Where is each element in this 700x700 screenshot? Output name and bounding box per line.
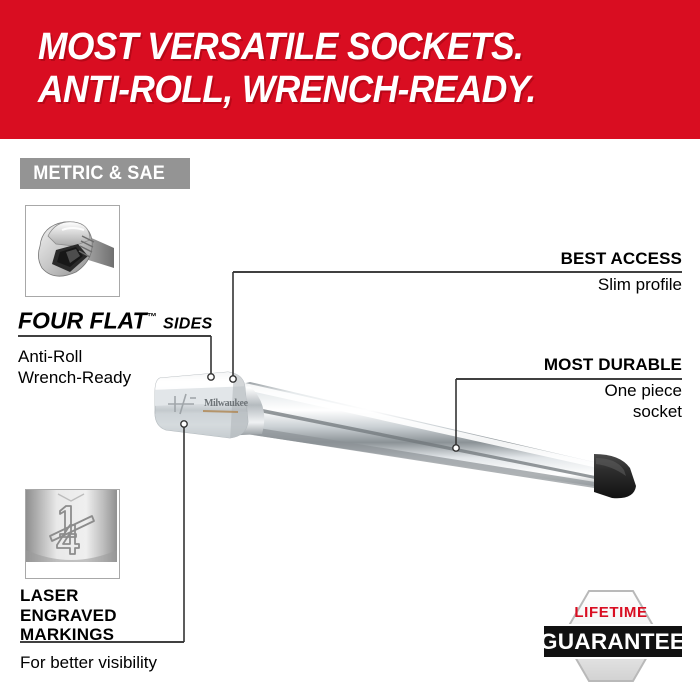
laser-title-line-1: LASER	[20, 586, 220, 606]
best-access-subtext: Slim profile	[422, 274, 682, 295]
metric-sae-badge: METRIC & SAE	[20, 158, 190, 189]
best-access-title: BEST ACCESS	[422, 249, 682, 268]
headline-line-2: ANTI-ROLL, WRENCH-READY.	[38, 69, 633, 112]
laser-title-line-2: ENGRAVED	[20, 606, 220, 626]
svg-text:Milwaukee: Milwaukee	[204, 398, 249, 409]
guarantee-lifetime-label: LIFETIME	[537, 604, 685, 621]
wrench-on-socket-illustration	[26, 206, 117, 294]
callout-best-access: BEST ACCESS Slim profile	[422, 249, 682, 295]
headline: MOST VERSATILE SOCKETS. ANTI-ROLL, WRENC…	[38, 26, 678, 112]
laser-title-line-3: MARKINGS	[20, 625, 220, 645]
laser-engraved-inset-photo	[25, 489, 120, 579]
headline-line-1: MOST VERSATILE SOCKETS.	[38, 26, 633, 69]
laser-engraved-title: LASER ENGRAVED MARKINGS	[20, 586, 220, 645]
four-flat-inset-photo	[25, 205, 120, 297]
guarantee-bar: GUARANTEE	[542, 624, 684, 659]
guarantee-main-label: GUARANTEE	[540, 629, 685, 655]
product-image-extension-bar: Milwaukee	[150, 350, 660, 520]
four-flat-title-main: FOUR FLAT	[18, 308, 147, 334]
four-flat-title: FOUR FLAT™ SIDES	[18, 305, 213, 337]
header-banner: MOST VERSATILE SOCKETS. ANTI-ROLL, WRENC…	[0, 0, 700, 139]
trademark-symbol: ™	[147, 312, 157, 323]
laser-engraved-subtext: For better visibility	[20, 653, 220, 673]
lifetime-guarantee-badge: LIFETIME GUARANTEE	[537, 588, 685, 684]
callout-laser-engraved: LASER ENGRAVED MARKINGS For better visib…	[20, 586, 220, 673]
socket-size-marking-illustration	[26, 490, 117, 576]
socket-extension-bar-illustration: Milwaukee	[150, 350, 660, 520]
four-flat-title-suffix: SIDES	[163, 316, 213, 333]
metric-sae-label: METRIC & SAE	[20, 163, 165, 185]
